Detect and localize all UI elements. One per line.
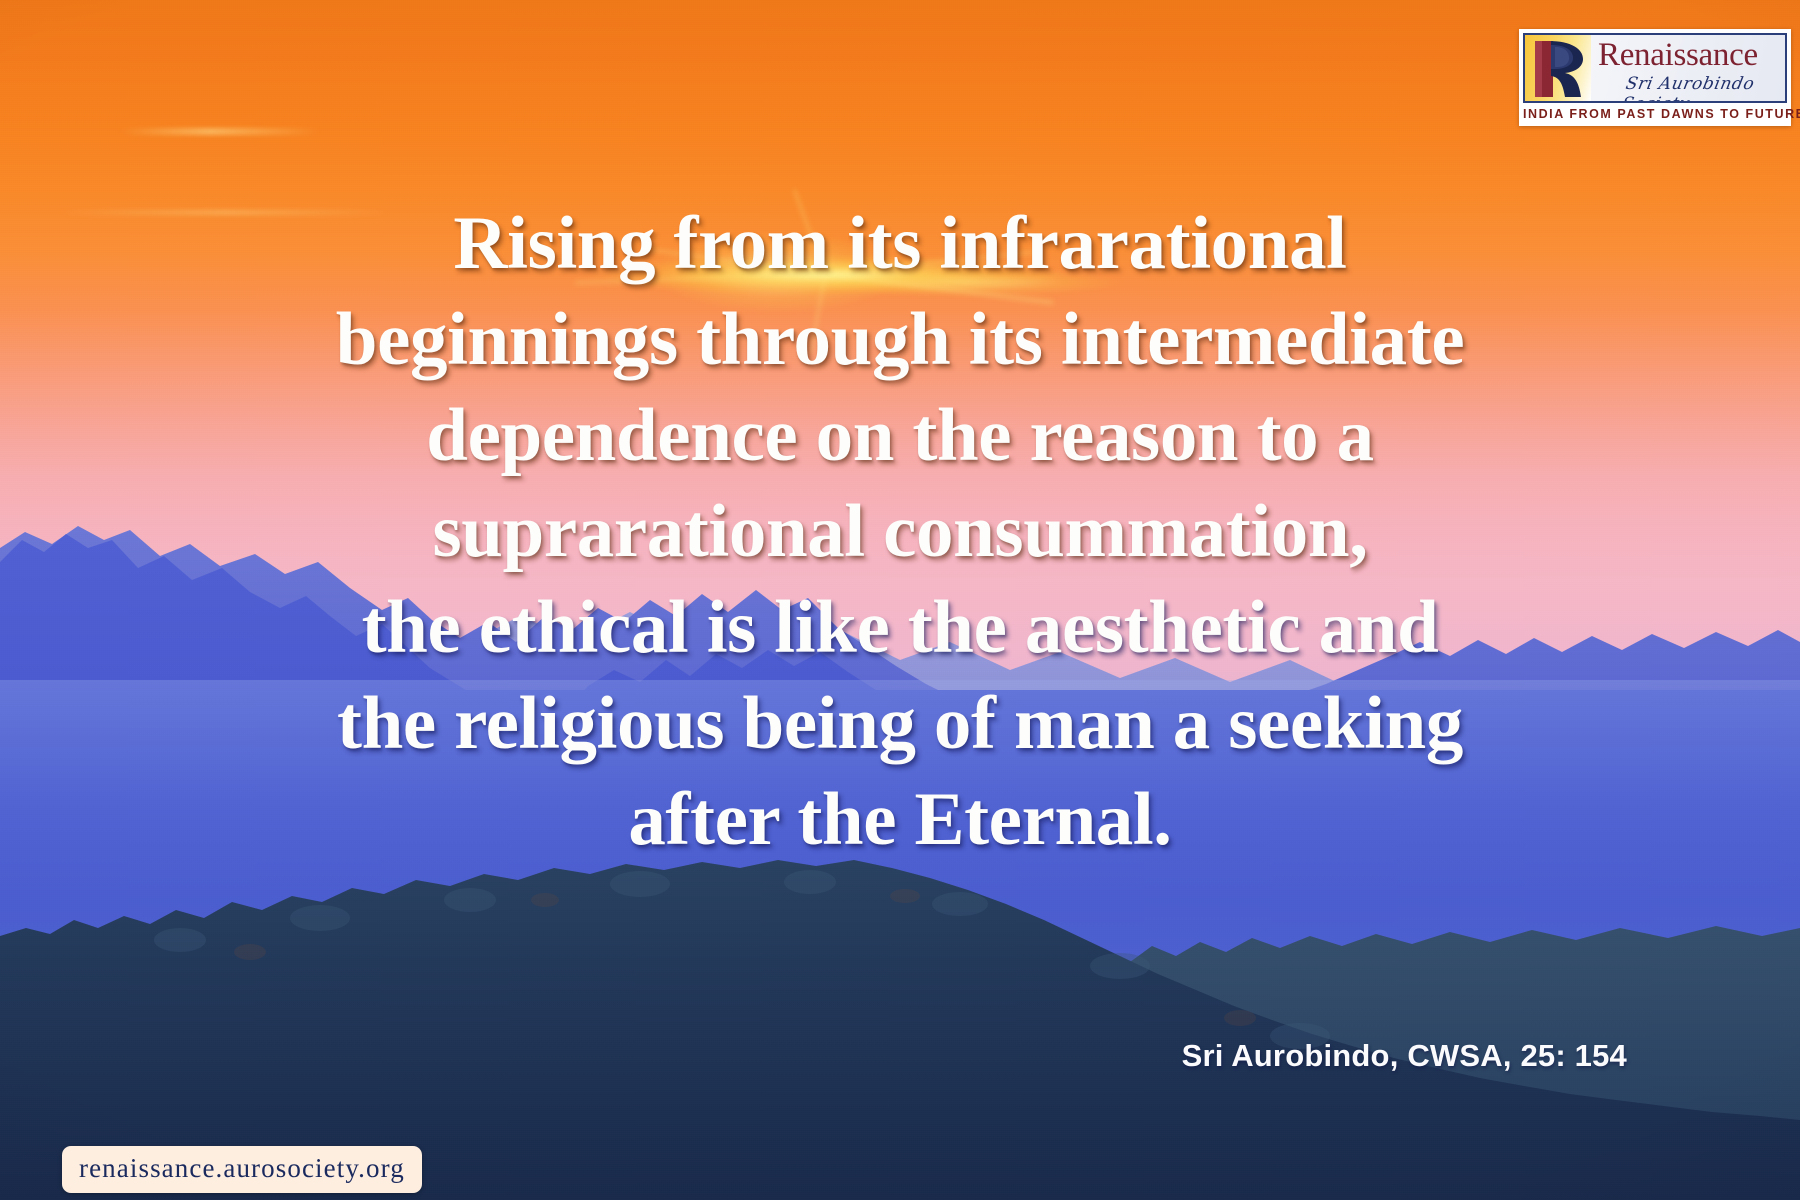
quote-line-4: suprarational consummation, bbox=[90, 484, 1710, 580]
quote-line-5: the ethical is like the aesthetic and bbox=[90, 580, 1710, 676]
logo-wordmark: Renaissance Sri Aurobindo Society bbox=[1591, 35, 1785, 101]
quote-line-2: beginnings through its intermediate bbox=[90, 292, 1710, 388]
quote-line-6: the religious being of man a seeking bbox=[90, 676, 1710, 772]
quote-line-7: after the Eternal. bbox=[90, 772, 1710, 868]
logo-tagline: INDIA FROM PAST DAWNS TO FUTURE NOONS bbox=[1523, 103, 1787, 126]
renaissance-logo[interactable]: Renaissance Sri Aurobindo Society INDIA … bbox=[1519, 29, 1791, 126]
logo-subtitle: Sri Aurobindo Society bbox=[1620, 74, 1787, 103]
quote-poster: Rising from its infrarational beginnings… bbox=[0, 0, 1800, 1200]
quote-block: Rising from its infrarational beginnings… bbox=[90, 196, 1710, 868]
website-url-badge[interactable]: renaissance.aurosociety.org bbox=[62, 1146, 422, 1193]
quote-line-3: dependence on the reason to a bbox=[90, 388, 1710, 484]
website-url-text: renaissance.aurosociety.org bbox=[79, 1153, 405, 1183]
attribution-text: Sri Aurobindo, CWSA, 25: 154 bbox=[0, 1038, 1627, 1074]
logo-title: Renaissance bbox=[1598, 36, 1785, 74]
logo-monogram-r-icon bbox=[1525, 35, 1591, 101]
logo-main-panel: Renaissance Sri Aurobindo Society bbox=[1523, 33, 1787, 103]
quote-line-1: Rising from its infrarational bbox=[90, 196, 1710, 292]
cloud-wisp bbox=[120, 128, 320, 135]
